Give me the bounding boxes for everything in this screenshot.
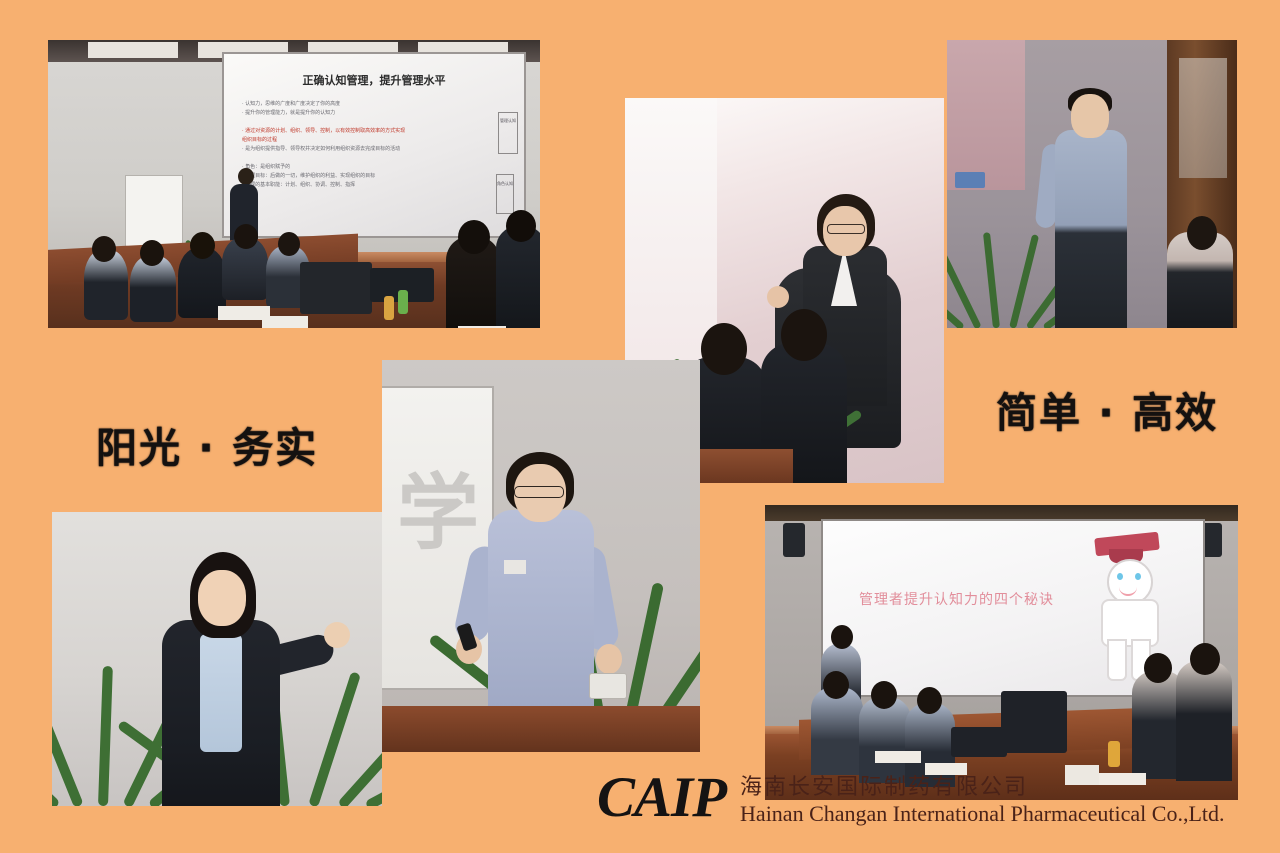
speaker-box-right [1200, 523, 1222, 557]
slide-side-label-2: 角色认知 [496, 174, 514, 214]
standing-presenter-head [238, 168, 254, 185]
paper-document [875, 751, 921, 763]
attendee [92, 236, 116, 262]
attendee [234, 224, 258, 249]
attendee [1176, 661, 1232, 781]
speaker-hand [324, 622, 350, 648]
company-branding: CAIP 海南长安国际制药有限公司 Hainan Changan Interna… [597, 772, 1225, 827]
company-name-block: 海南长安国际制药有限公司 Hainan Changan Internationa… [740, 772, 1224, 827]
attendee [811, 687, 863, 775]
attendee-head [1190, 643, 1220, 675]
slogan-left: 阳光 · 务实 [96, 414, 318, 474]
attendee-head [1144, 653, 1172, 683]
photo-young-woman [52, 512, 382, 806]
wall-sign [955, 172, 985, 188]
speaker-shirt [200, 634, 242, 752]
attendee-head [871, 681, 897, 709]
slide-body: · 认知力，思维的广度和广度决定了你的高度 · 提升你的管理能力，就是提升你的认… [242, 100, 510, 190]
slide-title: 管理者提升认知力的四个秘诀 [859, 589, 1054, 609]
paper-document [262, 316, 308, 328]
attendee-head [917, 687, 942, 714]
attendee [278, 232, 300, 256]
attendee [140, 240, 164, 266]
table [382, 706, 700, 752]
attendee [458, 220, 490, 254]
eyeglasses [827, 224, 865, 234]
presenter-right-hand [596, 644, 622, 674]
audience-member-head [781, 309, 827, 361]
photo-woman-remote: 学 [382, 360, 700, 752]
photo-meeting-slide: 正确认知管理，提升管理水平 · 认知力，思维的广度和广度决定了你的高度 · 提升… [48, 40, 540, 328]
presenter-body [1055, 130, 1127, 328]
attendee [190, 232, 215, 259]
photo-male-presenter [947, 40, 1237, 328]
slogan-right: 简单 · 高效 [996, 379, 1218, 439]
laptop [951, 727, 1007, 757]
company-name-cn: 海南长安国际制药有限公司 [740, 776, 1224, 801]
eyeglasses [514, 486, 564, 498]
monitor [300, 262, 372, 314]
collage-canvas: 正确认知管理，提升管理水平 · 认知力，思维的广度和广度决定了你的高度 · 提升… [0, 0, 1280, 853]
speaker-box-left [783, 523, 805, 557]
water-bottle [384, 296, 394, 320]
wall-panel [947, 40, 1025, 190]
ceiling-strip [765, 505, 1238, 521]
wall-socket [590, 674, 626, 698]
seated-attendee-head [1187, 216, 1217, 250]
company-name-en: Hainan Changan International Pharmaceuti… [740, 801, 1224, 827]
monitor [1001, 691, 1067, 753]
whiteboard-text: 学 [386, 446, 490, 565]
water-bottle [1108, 741, 1120, 767]
photo-meeting-slide-2: 管理者提升认知力的四个秘诀 [765, 505, 1238, 800]
slide-side-label-1: 管理认知 [498, 112, 518, 154]
attendee-head [823, 671, 849, 699]
attendee [506, 210, 536, 242]
water-bottle [398, 290, 408, 314]
name-badge [504, 560, 526, 574]
presenter-head [1071, 94, 1109, 138]
potted-plant-left [52, 512, 178, 806]
audience-member-head [701, 323, 747, 375]
paper-document [458, 326, 506, 328]
attendee [859, 697, 911, 783]
projection-screen: 正确认知管理，提升管理水平 · 认知力，思维的广度和广度决定了你的高度 · 提升… [224, 54, 524, 236]
slide-title: 正确认知管理，提升管理水平 [224, 72, 524, 88]
caip-logo: CAIP [597, 772, 726, 824]
speaker-head [198, 570, 246, 626]
standing-presenter-head [831, 625, 853, 649]
